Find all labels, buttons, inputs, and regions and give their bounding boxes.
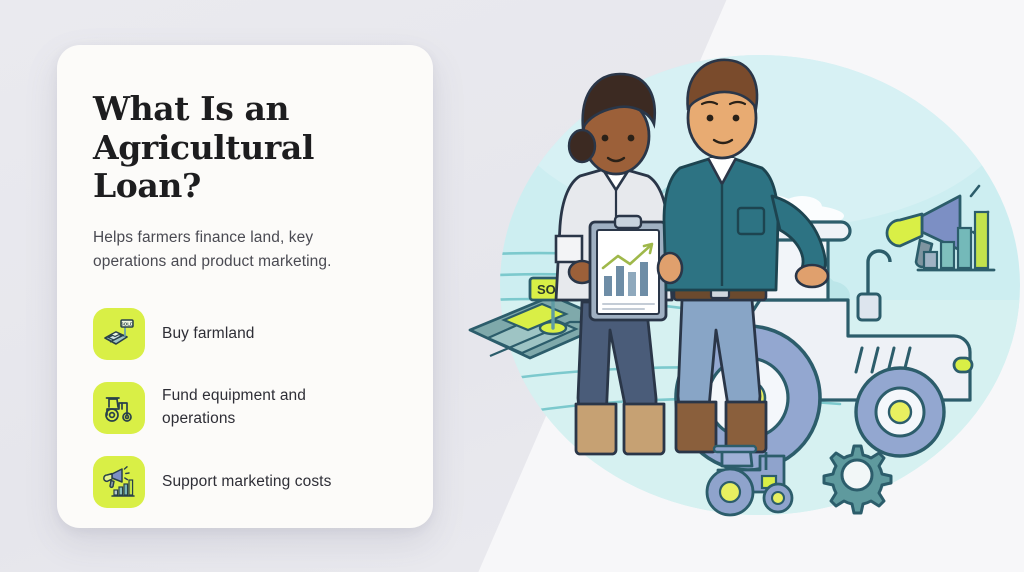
megaphone-chart-icon (93, 456, 145, 508)
list-item[interactable]: SOLD Buy farmland (93, 308, 397, 360)
list-item-label: Buy farmland (162, 323, 255, 345)
infographic-canvas: SOLD (0, 0, 1024, 572)
list-item[interactable]: Support marketing costs (93, 456, 397, 508)
page-subtitle: Helps farmers finance land, key operatio… (93, 226, 393, 274)
list-item-label: Support marketing costs (162, 471, 331, 493)
tractor-icon (93, 382, 145, 434)
info-card: What Is an Agricultural Loan? Helps farm… (57, 45, 433, 528)
list-item[interactable]: Fund equipment and operations (93, 382, 397, 434)
list-item-label: Fund equipment and operations (162, 385, 306, 430)
page-title: What Is an Agricultural Loan? (93, 90, 397, 206)
svg-text:SOLD: SOLD (121, 321, 134, 326)
gear-icon (824, 446, 891, 513)
land-sold-sign-icon: SOLD (93, 308, 145, 360)
feature-list: SOLD Buy farmland (93, 308, 397, 508)
clipboard-with-chart (590, 216, 666, 320)
two-farmers-with-tractor-illustration: SOLD (430, 0, 1024, 572)
